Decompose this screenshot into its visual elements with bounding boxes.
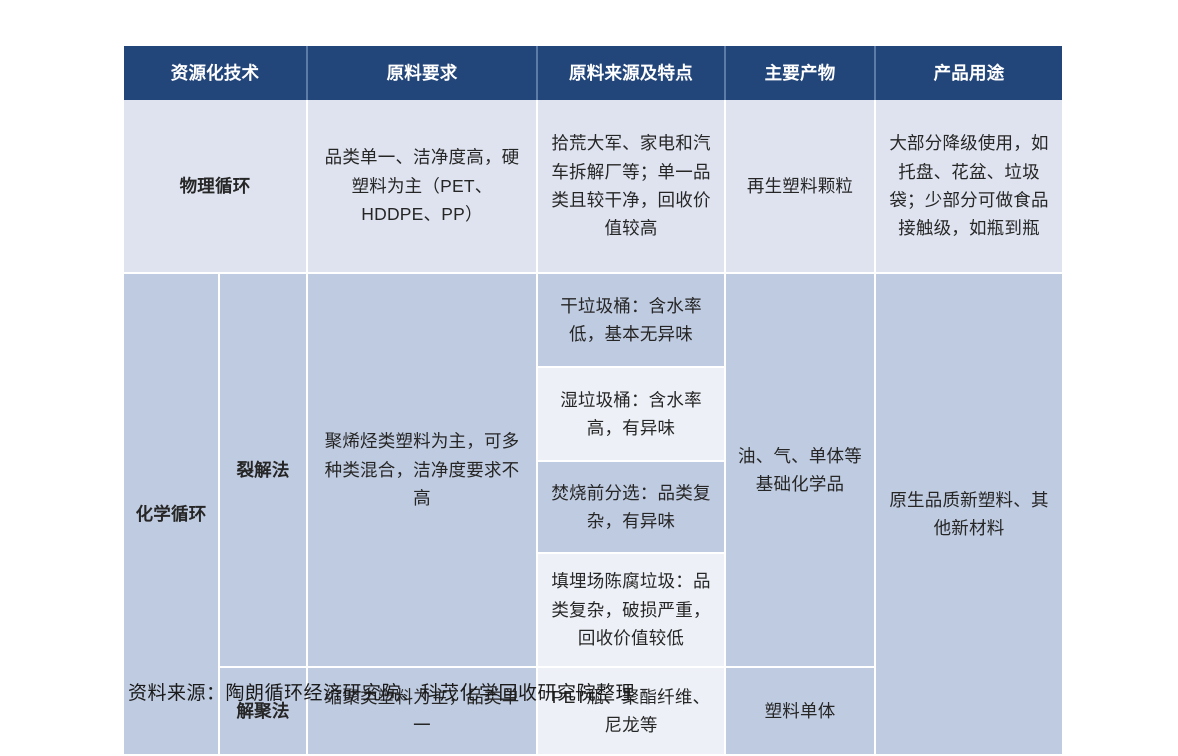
cell-pyrolysis-requirement: 聚烯烃类塑料为主，可多种类混合，洁净度要求不高 <box>308 274 538 668</box>
table-header: 资源化技术 原料要求 原料来源及特点 主要产物 产品用途 <box>124 46 1062 100</box>
column-header-product-usage: 产品用途 <box>876 46 1062 100</box>
table-body: 物理循环 品类单一、洁净度高，硬塑料为主（PET、HDDPE、PP） 拾荒大军、… <box>124 100 1062 756</box>
cell-pyrolysis-source-dry-bin: 干垃圾桶：含水率低，基本无异味 <box>538 274 726 368</box>
cell-pyrolysis-method: 裂解法 <box>220 274 308 668</box>
plastic-recycling-technology-table: 资源化技术 原料要求 原料来源及特点 主要产物 产品用途 物理循环 品类单一、洁… <box>124 46 1062 756</box>
cell-physical-source: 拾荒大军、家电和汽车拆解厂等；单一品类且较干净，回收价值较高 <box>538 100 726 274</box>
table-row-physical-recycling: 物理循环 品类单一、洁净度高，硬塑料为主（PET、HDDPE、PP） 拾荒大军、… <box>124 100 1062 274</box>
source-note: 资料来源：陶朗循环经济研究院、科茂化学回收研究院整理 <box>128 678 635 705</box>
cell-pyrolysis-source-wet-bin: 湿垃圾桶：含水率高，有异味 <box>538 368 726 462</box>
column-header-feedstock-requirement: 原料要求 <box>308 46 538 100</box>
cell-pyrolysis-source-pre-incineration-sorting: 焚烧前分选：品类复杂，有异味 <box>538 462 726 554</box>
cell-depolymerization-product: 塑料单体 <box>726 668 876 756</box>
header-row: 资源化技术 原料要求 原料来源及特点 主要产物 产品用途 <box>124 46 1062 100</box>
page-root: 资源化技术 原料要求 原料来源及特点 主要产物 产品用途 物理循环 品类单一、洁… <box>0 0 1178 748</box>
cell-physical-usage: 大部分降级使用，如托盘、花盆、垃圾袋；少部分可做食品接触级，如瓶到瓶 <box>876 100 1062 274</box>
table-row-pyrolysis-1: 化学循环 裂解法 聚烯烃类塑料为主，可多种类混合，洁净度要求不高 干垃圾桶：含水… <box>124 274 1062 368</box>
cell-physical-technology: 物理循环 <box>124 100 308 274</box>
cell-physical-requirement: 品类单一、洁净度高，硬塑料为主（PET、HDDPE、PP） <box>308 100 538 274</box>
column-header-feedstock-source: 原料来源及特点 <box>538 46 726 100</box>
cell-physical-product: 再生塑料颗粒 <box>726 100 876 274</box>
cell-chemical-usage: 原生品质新塑料、其他新材料 <box>876 274 1062 756</box>
column-header-technology: 资源化技术 <box>124 46 308 100</box>
cell-pyrolysis-product: 油、气、单体等基础化学品 <box>726 274 876 668</box>
cell-pyrolysis-source-landfill-aged-waste: 填埋场陈腐垃圾：品类复杂，破损严重，回收价值较低 <box>538 554 726 668</box>
column-header-main-product: 主要产物 <box>726 46 876 100</box>
